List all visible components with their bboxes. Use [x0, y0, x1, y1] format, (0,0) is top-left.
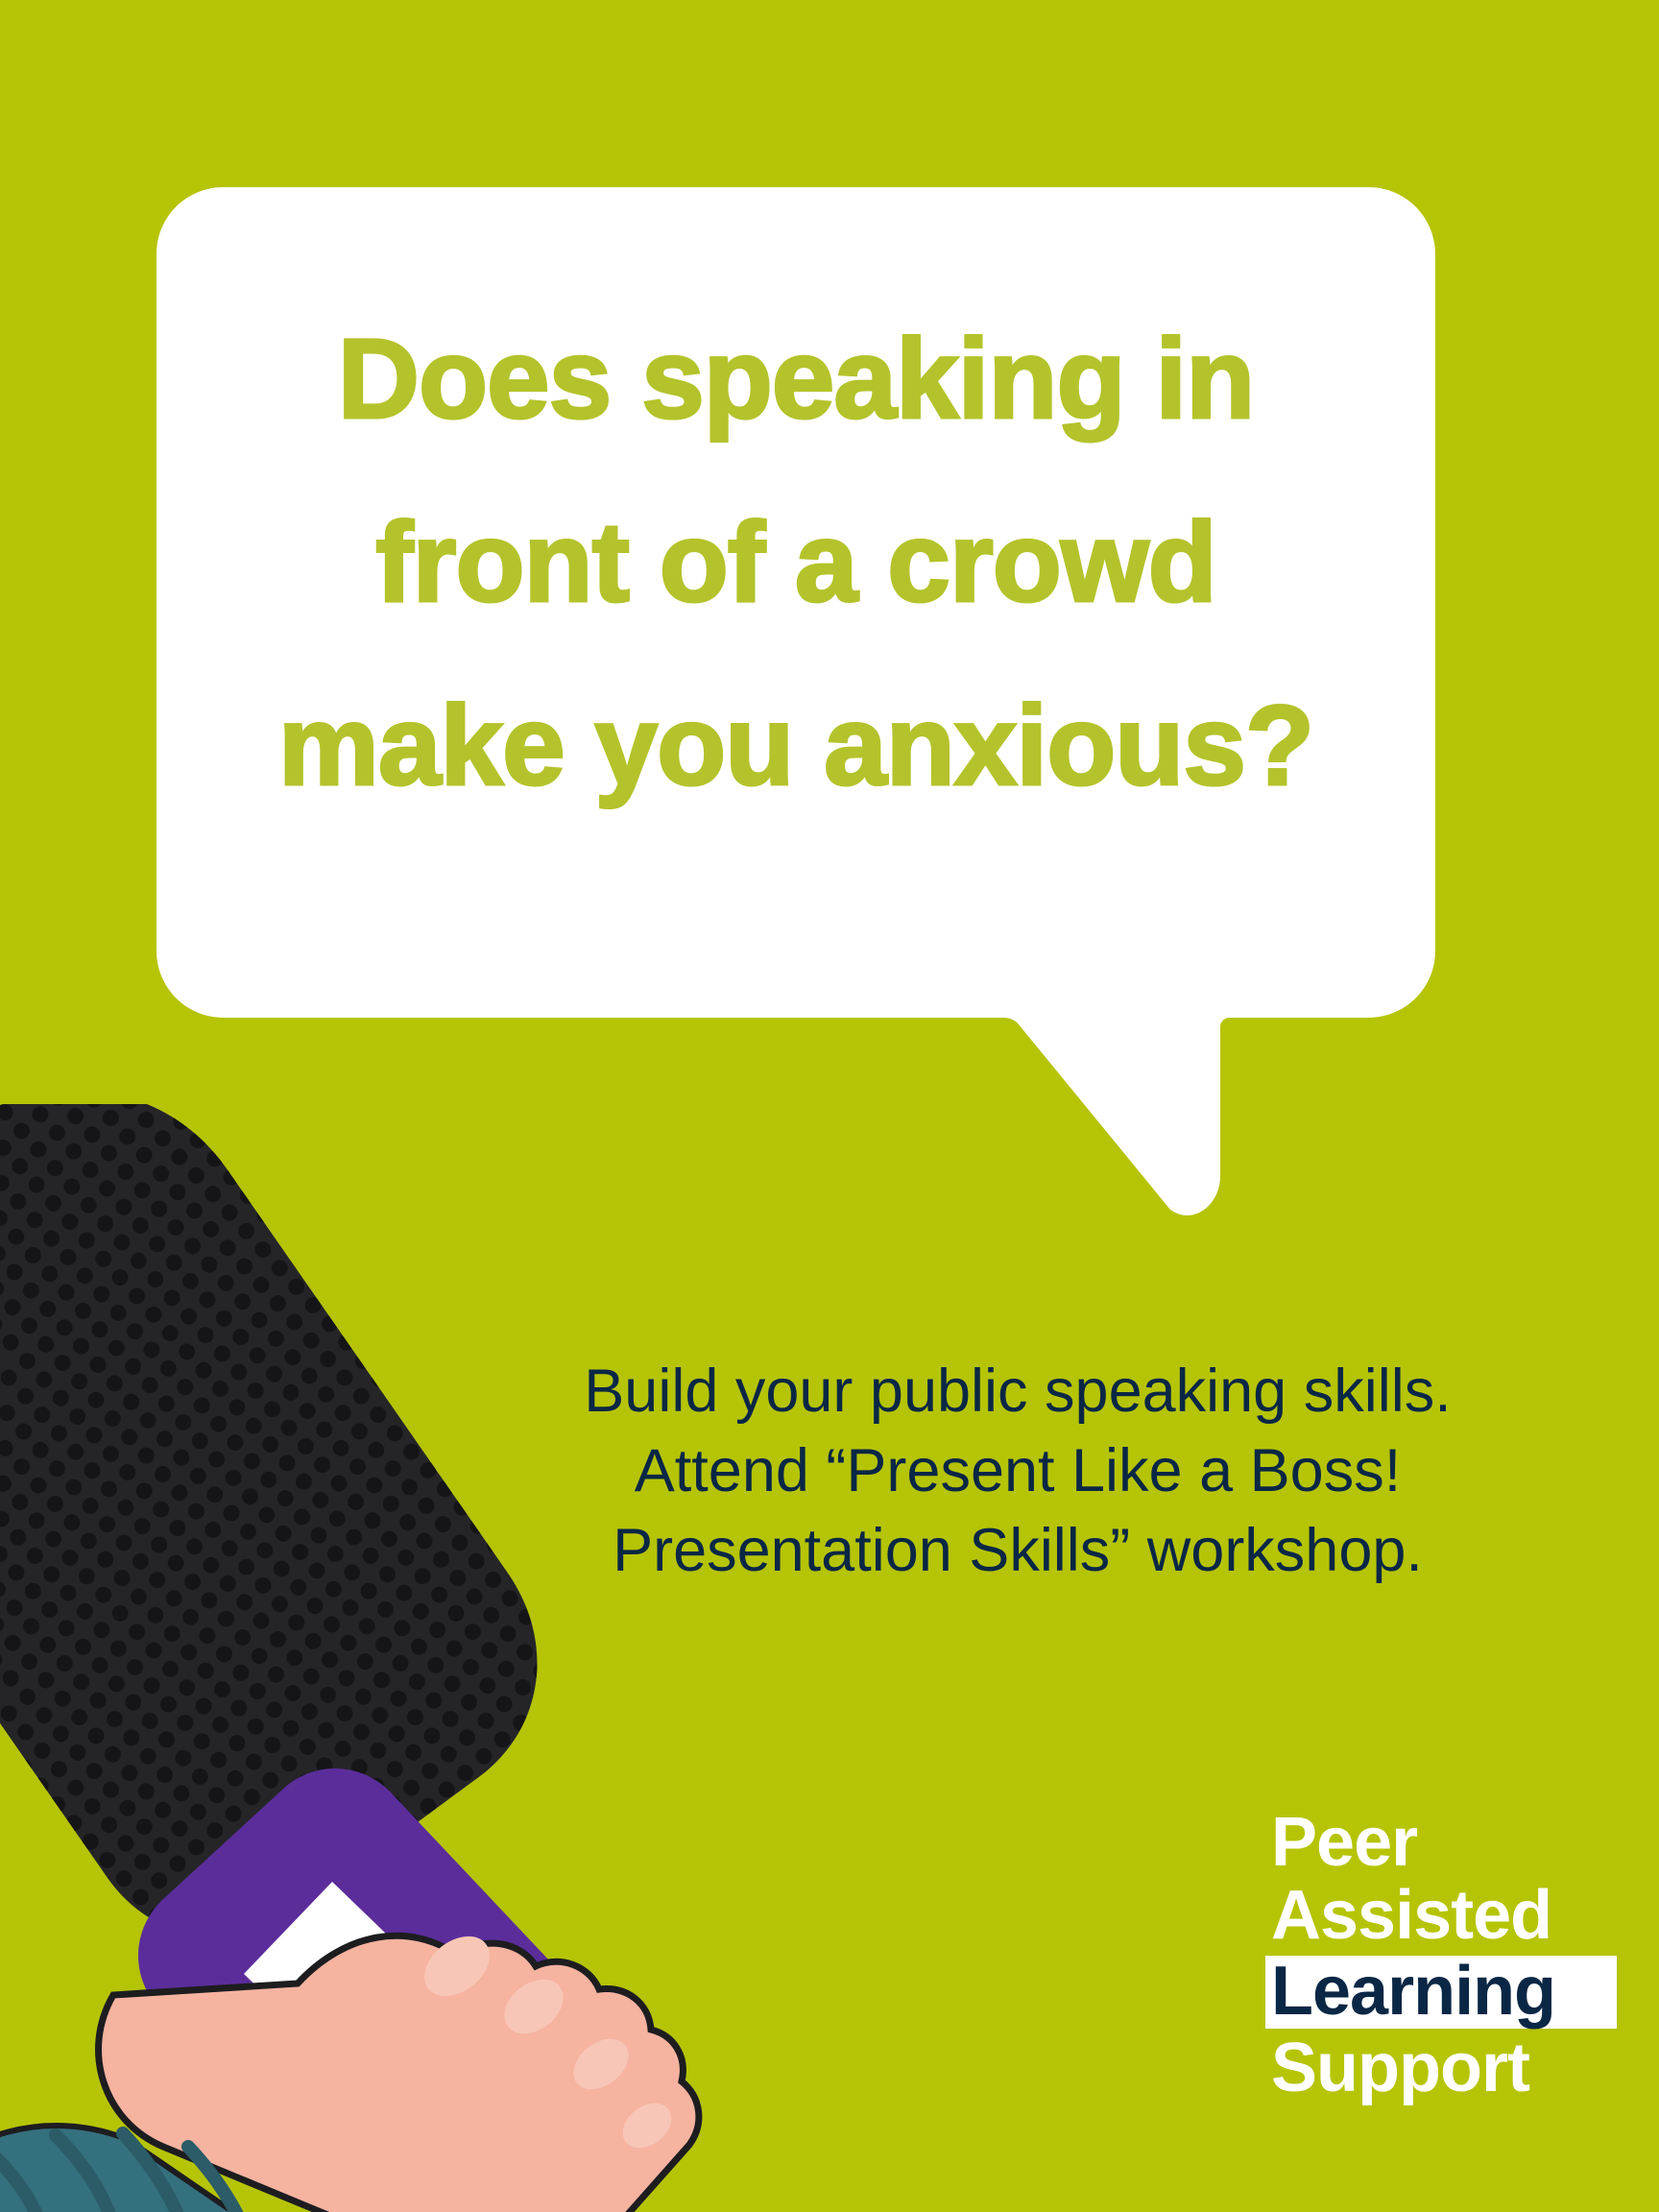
shirt-sleeve-cuff-icon — [0, 2126, 298, 2212]
logo-line-assisted: Assisted — [1265, 1880, 1617, 1953]
pals-logo: Peer Assisted Learning Support — [1265, 1807, 1617, 2104]
microphone-cable-icon — [507, 2072, 605, 2212]
poster-canvas: Does speaking in front of a crowd make y… — [0, 0, 1659, 2212]
body-copy-line-2: Attend “Present Like a Boss! — [422, 1431, 1613, 1511]
headline-text: Does speaking in front of a crowd make y… — [156, 288, 1435, 838]
microphone-body-icon — [138, 1768, 637, 2212]
logo-line-support: Support — [1265, 2032, 1617, 2105]
microphone-collar-icon — [198, 1849, 509, 2151]
body-copy-text: Build your public speaking skills. Atten… — [422, 1352, 1613, 1591]
microphone-base-icon — [355, 1964, 576, 2181]
logo-line-peer: Peer — [1265, 1807, 1617, 1880]
headline-line-3: make you anxious? — [156, 655, 1435, 838]
headline-line-2: front of a crowd — [156, 471, 1435, 655]
body-copy-line-3: Presentation Skills” workshop. — [422, 1511, 1613, 1591]
logo-line-learning: Learning — [1265, 1956, 1617, 2029]
microphone-illustration — [0, 1104, 854, 2212]
fist-holding-microphone-icon — [99, 1924, 699, 2212]
microphone-mesh-head-icon — [0, 1104, 691, 2141]
headline-line-1: Does speaking in — [156, 288, 1435, 471]
body-copy-line-1: Build your public speaking skills. — [422, 1352, 1613, 1431]
